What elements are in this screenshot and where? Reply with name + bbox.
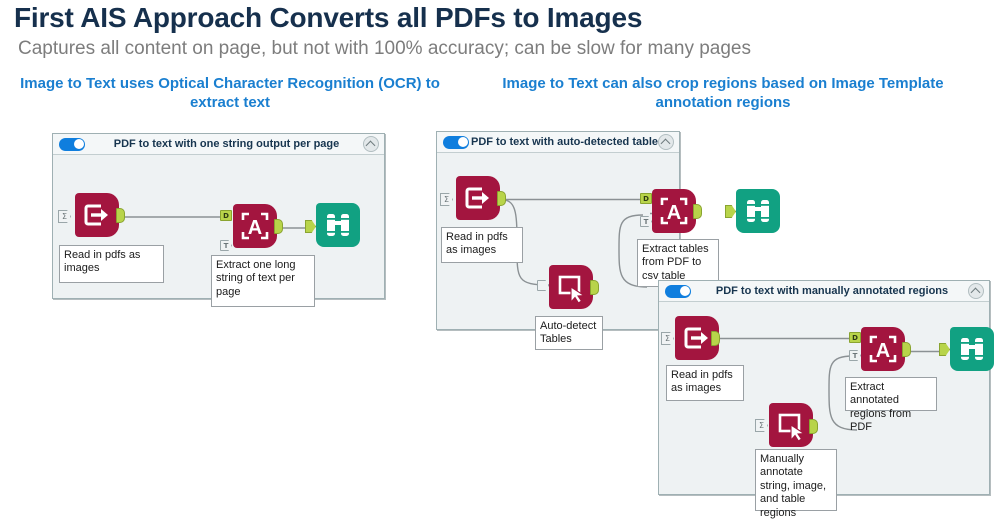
- input-anchor-sigma[interactable]: Σ: [58, 210, 71, 223]
- workflow-panel-auto-tables: PDF to text with auto-detected tables Σ: [436, 131, 680, 330]
- page-subtitle: Captures all content on page, but not wi…: [18, 38, 751, 60]
- panel-enable-toggle[interactable]: [443, 136, 469, 149]
- input-anchor-sigma[interactable]: Σ: [661, 332, 674, 345]
- chevron-up-icon[interactable]: [658, 134, 674, 150]
- output-port[interactable]: [711, 331, 720, 346]
- panel-title: PDF to text with manually annotated regi…: [693, 285, 989, 297]
- input-port-browse[interactable]: [939, 343, 950, 356]
- input-port-d[interactable]: D: [640, 193, 652, 204]
- panel-header: PDF to text with manually annotated regi…: [659, 281, 989, 302]
- svg-text:A: A: [876, 340, 890, 362]
- tool-note: Auto-detect Tables: [535, 316, 603, 350]
- svg-text:A: A: [667, 202, 681, 224]
- output-port[interactable]: [497, 191, 506, 206]
- output-port[interactable]: [693, 204, 702, 219]
- workflow-canvas[interactable]: Σ Read in pdfs as images Σ Manually anno…: [659, 302, 989, 494]
- tool-browse[interactable]: [950, 327, 994, 371]
- rectangle-cursor-icon: [769, 403, 813, 447]
- connection-input-to-ocr: [713, 336, 852, 341]
- tool-image-template[interactable]: [769, 403, 813, 447]
- output-port[interactable]: [116, 208, 125, 223]
- tool-input-pdf[interactable]: [456, 176, 500, 220]
- input-port-browse[interactable]: [725, 205, 736, 218]
- tool-browse[interactable]: [316, 203, 360, 247]
- panel-title: PDF to text with auto-detected tables: [471, 136, 679, 148]
- tool-image-to-text[interactable]: A: [861, 327, 905, 371]
- panel-enable-toggle[interactable]: [59, 138, 85, 151]
- workflow-canvas[interactable]: Σ Read in pdfs as images D T A Extract o…: [53, 155, 384, 298]
- tool-input-pdf[interactable]: [75, 193, 119, 237]
- tool-browse[interactable]: [736, 189, 780, 233]
- connection-input-to-ocr: [120, 215, 220, 219]
- chevron-up-icon[interactable]: [968, 283, 984, 299]
- input-anchor-sigma[interactable]: Σ: [440, 193, 453, 206]
- output-port[interactable]: [590, 280, 599, 295]
- tool-note: Manually annotate string, image, and tab…: [755, 449, 837, 511]
- letter-a-crop-brackets-icon: A: [652, 189, 696, 233]
- output-port[interactable]: [809, 419, 818, 434]
- svg-text:A: A: [248, 217, 262, 239]
- tool-note: Read in pdfs as images: [441, 227, 523, 263]
- letter-a-crop-brackets-icon: A: [233, 204, 277, 248]
- workflow-canvas[interactable]: Σ Read in pdfs as images Auto-detect Tab…: [437, 153, 679, 329]
- arrow-into-box-icon: [456, 176, 500, 220]
- input-port-browse[interactable]: [305, 220, 316, 233]
- panel-header: PDF to text with auto-detected tables: [437, 132, 679, 153]
- workflow-panel-one-string: PDF to text with one string output per p…: [52, 133, 385, 299]
- tool-image-to-text[interactable]: A: [233, 204, 277, 248]
- column-heading-right: Image to Text can also crop regions base…: [482, 75, 964, 113]
- chevron-up-icon[interactable]: [363, 136, 379, 152]
- page-title: First AIS Approach Converts all PDFs to …: [14, 2, 642, 34]
- tool-note: Extract annotated regions from PDF: [845, 377, 937, 411]
- panel-enable-toggle[interactable]: [665, 285, 691, 298]
- workflow-panel-manual-regions: PDF to text with manually annotated regi…: [658, 280, 990, 495]
- tool-image-to-text[interactable]: A: [652, 189, 696, 233]
- letter-a-crop-brackets-icon: A: [861, 327, 905, 371]
- panel-header: PDF to text with one string output per p…: [53, 134, 384, 155]
- tool-note: Read in pdfs as images: [666, 365, 744, 401]
- arrow-into-box-icon: [75, 193, 119, 237]
- binoculars-icon: [950, 327, 994, 371]
- rectangle-cursor-icon: [549, 265, 593, 309]
- input-port-d[interactable]: D: [849, 332, 861, 343]
- input-anchor-sigma[interactable]: Σ: [755, 419, 768, 432]
- input-port-t[interactable]: T: [220, 240, 232, 251]
- output-port[interactable]: [274, 219, 283, 234]
- binoculars-icon: [316, 203, 360, 247]
- input-port-d[interactable]: D: [220, 210, 232, 221]
- panel-title: PDF to text with one string output per p…: [87, 138, 384, 150]
- tool-image-template[interactable]: [549, 265, 593, 309]
- tool-note: Read in pdfs as images: [59, 245, 164, 283]
- binoculars-icon: [736, 189, 780, 233]
- output-port[interactable]: [902, 342, 911, 357]
- tool-note: Extract one long string of text per page: [211, 255, 315, 307]
- column-heading-left: Image to Text uses Optical Character Rec…: [6, 75, 454, 113]
